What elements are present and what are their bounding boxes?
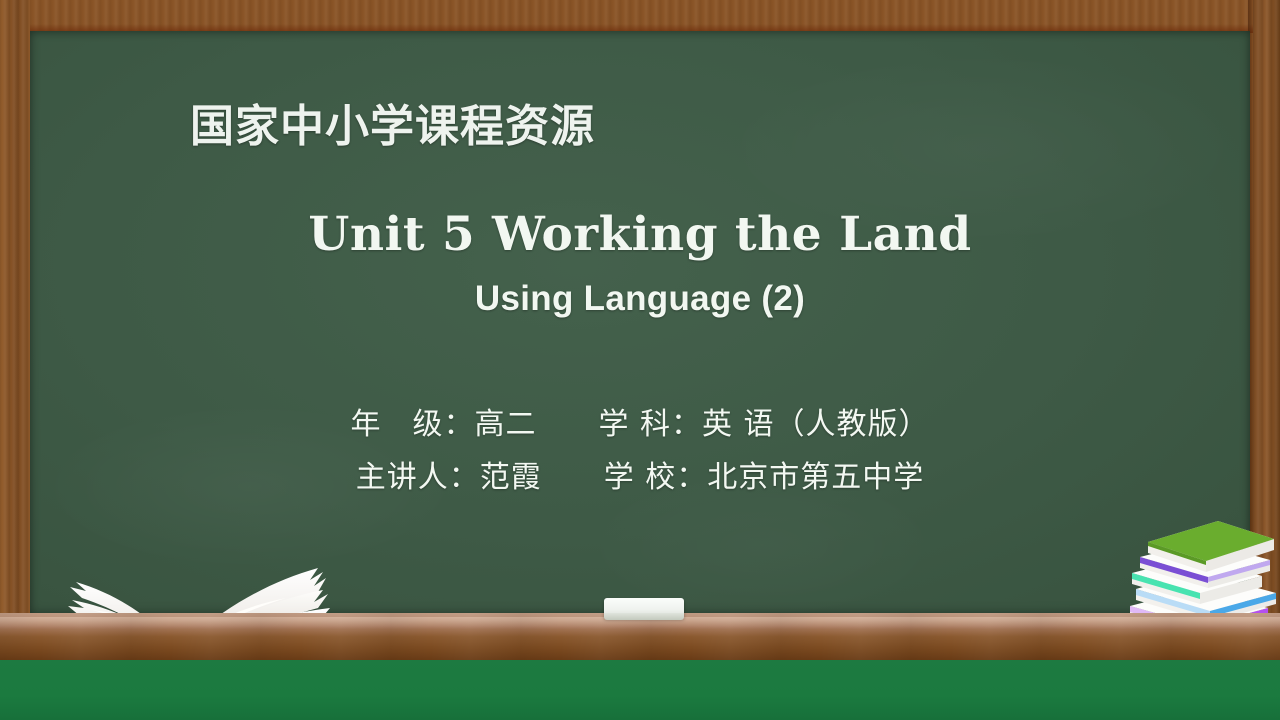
chalkboard-eraser-side xyxy=(604,613,684,620)
bottom-green-band xyxy=(0,660,1280,720)
brand-logo-text: 国家中小学课程资源 xyxy=(190,90,595,154)
info-line-teacher-school: 主讲人：范霞 学 校：北京市第五中学 xyxy=(0,451,1280,504)
info-line-grade-subject: 年 级：高二 学 科：英 语（人教版） xyxy=(0,398,1280,451)
lesson-sub-title: Using Language (2) xyxy=(0,279,1280,319)
lesson-info-block: 年 级：高二 学 科：英 语（人教版） 主讲人：范霞 学 校：北京市第五中学 xyxy=(0,398,1280,504)
lesson-main-title: Unit 5 Working the Land xyxy=(0,207,1280,262)
slide-canvas: 国家中小学课程资源 Unit 5 Working the Land Using … xyxy=(0,0,1280,720)
